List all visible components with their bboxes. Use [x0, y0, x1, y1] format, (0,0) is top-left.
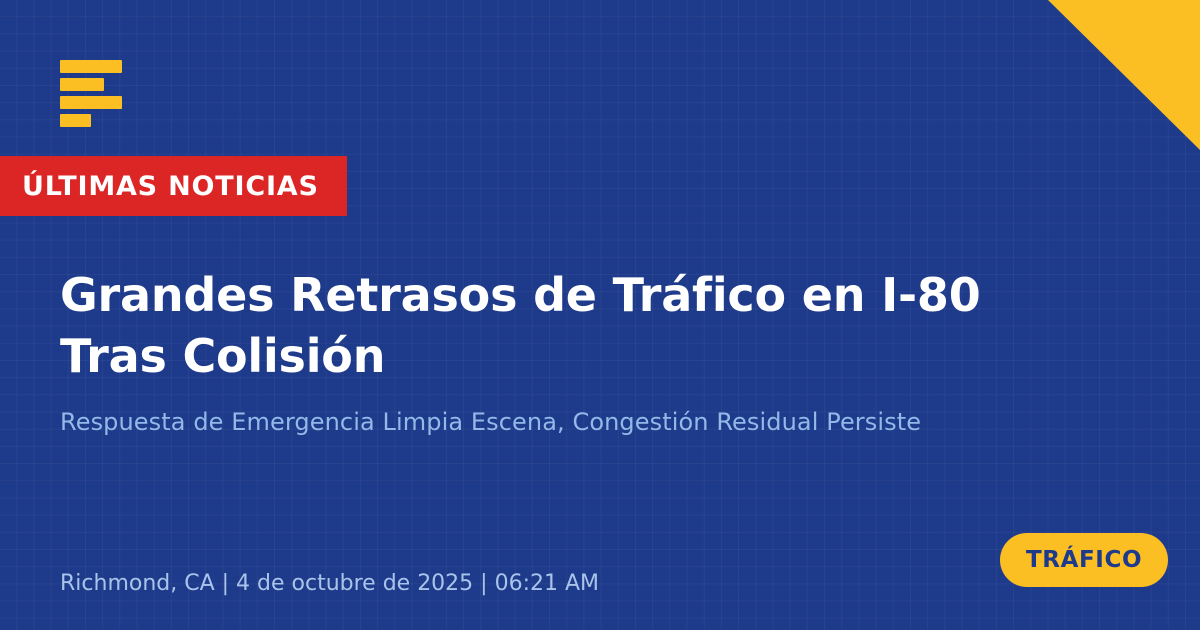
breaking-news-label: ÚLTIMAS NOTICIAS: [22, 173, 319, 200]
meta-line: Richmond, CA | 4 de octubre de 2025 | 06…: [60, 573, 599, 595]
breaking-news-badge: ÚLTIMAS NOTICIAS: [0, 156, 347, 216]
logo-bar-3: [60, 96, 122, 109]
category-badge: TRÁFICO: [1000, 533, 1168, 587]
news-brand-logo: [60, 60, 150, 127]
logo-bar-4: [60, 114, 91, 127]
breaking-news-card: ÚLTIMAS NOTICIAS Grandes Retrasos de Trá…: [0, 0, 1200, 630]
subheadline: Respuesta de Emergencia Limpia Escena, C…: [60, 406, 1120, 440]
logo-bar-1: [60, 60, 122, 73]
category-badge-label: TRÁFICO: [1026, 549, 1142, 572]
corner-triangle-decoration: [1048, 0, 1200, 150]
headline: Grandes Retrasos de Tráfico en I-80 Tras…: [60, 265, 1100, 386]
logo-bar-2: [60, 78, 104, 91]
